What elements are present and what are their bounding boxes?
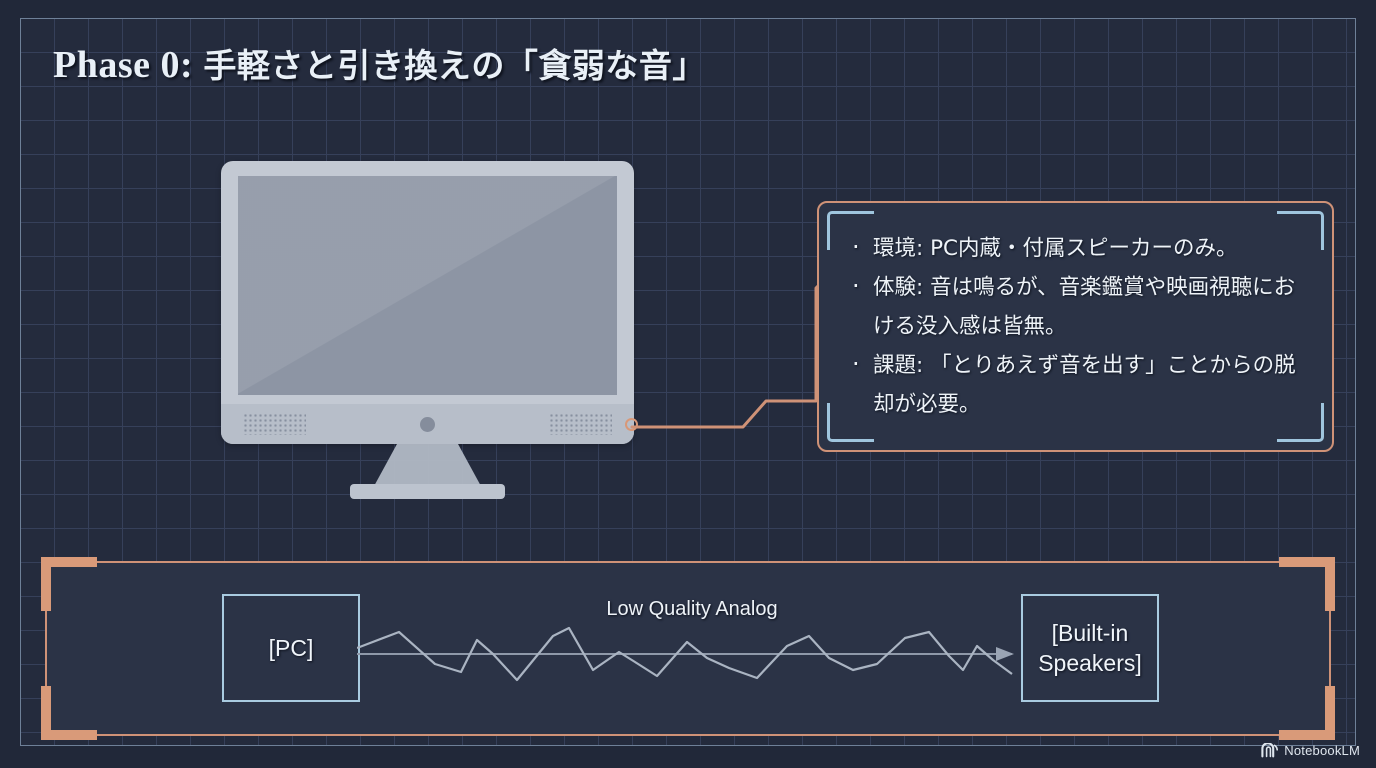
- monitor-illustration: [221, 161, 634, 501]
- speaker-grille-right-icon: [549, 413, 612, 435]
- notebooklm-watermark: NotebookLM: [1261, 743, 1360, 758]
- connector-line: [630, 200, 830, 440]
- list-item: 課題: 「とりあえず音を出す」ことからの脱却が必要。: [847, 346, 1310, 424]
- monitor-bezel: [221, 161, 634, 444]
- diagram-node-pc: [PC]: [222, 594, 360, 702]
- list-item: 環境: PC内蔵・付属スピーカーのみ。: [847, 229, 1310, 268]
- monitor-stand-neck: [373, 444, 482, 488]
- signal-flow-panel: [PC] Low Quality Analog [Built-in Speake…: [45, 561, 1331, 736]
- page-title: Phase 0: 手軽さと引き換えの「貪弱な音」: [53, 40, 706, 91]
- diagram-node-speakers: [Built-in Speakers]: [1021, 594, 1159, 702]
- slide-canvas: Phase 0: 手軽さと引き換えの「貪弱な音」 環境: PC内蔵・付属スピーカ…: [0, 0, 1376, 768]
- list-item: 体験: 音は鳴るが、音楽鑑賞や映画視聴における没入感は皆無。: [847, 268, 1310, 346]
- monitor-screen: [238, 176, 617, 395]
- monitor-power-button-icon: [420, 417, 435, 432]
- monitor-stand-base: [350, 484, 505, 499]
- page-title-japanese: 手軽さと引き換えの「貪弱な音」: [203, 46, 706, 85]
- panel-corner-top-right: [1279, 557, 1335, 611]
- monitor-chin: [221, 404, 634, 444]
- signal-waveform: [357, 618, 1027, 688]
- panel-corner-bottom-left: [41, 686, 97, 740]
- panel-corner-top-left: [41, 557, 97, 611]
- speaker-grille-left-icon: [243, 413, 306, 435]
- info-bullet-list: 環境: PC内蔵・付属スピーカーのみ。 体験: 音は鳴るが、音楽鑑賞や映画視聴に…: [847, 229, 1310, 424]
- screen-gloss-overlay: [238, 176, 617, 395]
- notebooklm-icon: [1261, 743, 1278, 758]
- connector-polyline: [632, 274, 830, 427]
- info-card: 環境: PC内蔵・付属スピーカーのみ。 体験: 音は鳴るが、音楽鑑賞や映画視聴に…: [817, 201, 1334, 452]
- watermark-label: NotebookLM: [1284, 743, 1360, 758]
- page-title-lead: Phase 0:: [53, 44, 193, 86]
- panel-corner-bottom-right: [1279, 686, 1335, 740]
